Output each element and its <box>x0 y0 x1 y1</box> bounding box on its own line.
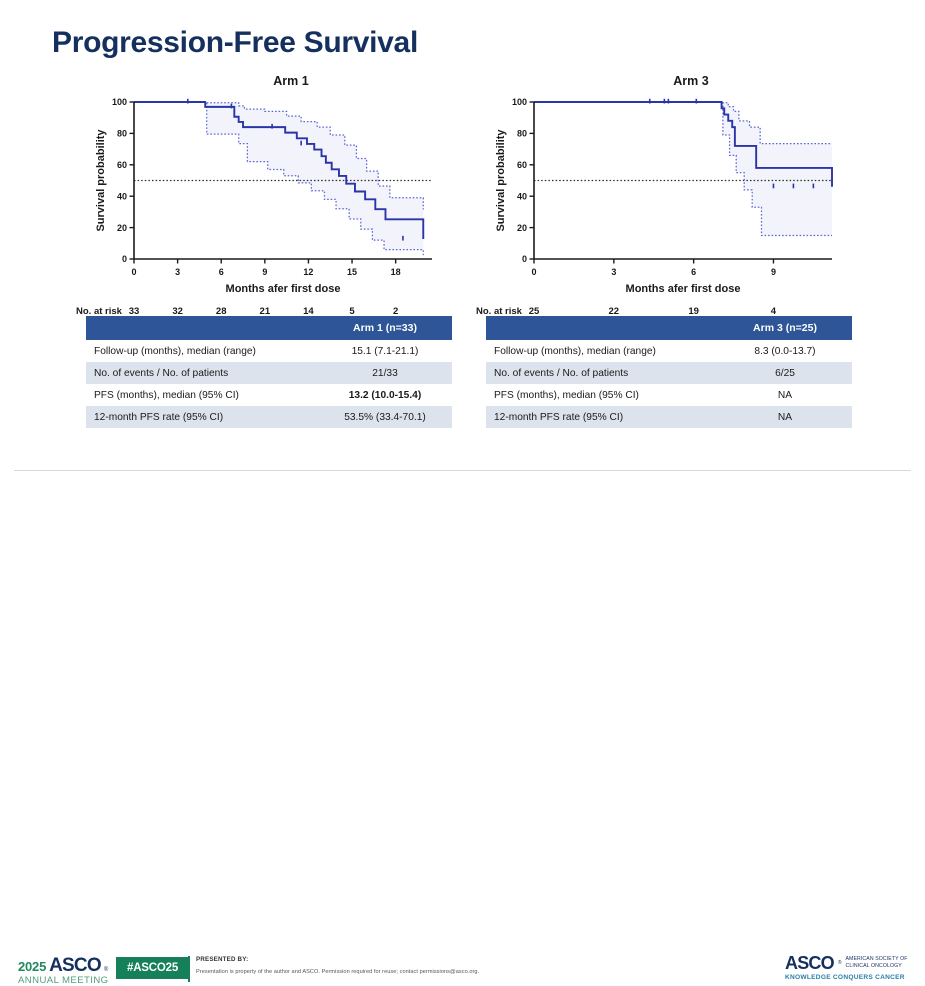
y-tick-label: 100 <box>112 97 127 107</box>
x-tick-label: 3 <box>175 267 180 277</box>
x-tick-label: 0 <box>131 267 136 277</box>
table-row: 12-month PFS rate (95% CI)NA <box>486 406 852 428</box>
table-cell-value: NA <box>718 406 852 428</box>
footer-divider <box>14 470 911 471</box>
y-tick-label: 0 <box>122 254 127 264</box>
stats-table-arm3: Arm 3 (n=25) Follow-up (months), median … <box>486 316 852 428</box>
y-axis-title: Survival probability <box>95 129 107 232</box>
registered-mark-icon: ® <box>838 960 842 966</box>
y-tick-label: 100 <box>512 97 527 107</box>
hashtag-badge: #ASCO25 <box>116 957 189 979</box>
table-cell-value: 8.3 (0.0-13.7) <box>718 340 852 362</box>
permission-text: Presentation is property of the author a… <box>196 969 479 975</box>
x-tick-label: 9 <box>262 267 267 277</box>
table-cell-value: 6/25 <box>718 362 852 384</box>
table-row: No. of events / No. of patients6/25 <box>486 362 852 384</box>
y-tick-label: 60 <box>117 160 127 170</box>
table-cell-label: No. of events / No. of patients <box>486 362 718 384</box>
society-tagline: KNOWLEDGE CONQUERS CANCER <box>785 974 908 981</box>
x-tick-label: 6 <box>691 267 696 277</box>
chart-panel-arm1: Arm 1 0369121518020406080100Months afer … <box>76 74 476 322</box>
x-tick-label: 3 <box>611 267 616 277</box>
table-row: PFS (months), median (95% CI)NA <box>486 384 852 406</box>
page-title: Progression-Free Survival <box>52 26 418 60</box>
meeting-brand: ASCO <box>49 956 101 975</box>
x-tick-label: 18 <box>391 267 401 277</box>
table-row: Follow-up (months), median (range)8.3 (0… <box>486 340 852 362</box>
y-tick-label: 40 <box>117 191 127 201</box>
meeting-year: 2025 <box>18 960 46 973</box>
chart-panel-arm3: Arm 3 0369020406080100Months afer first … <box>476 74 876 322</box>
table-cell-label: 12-month PFS rate (95% CI) <box>486 406 718 428</box>
table-row: 12-month PFS rate (95% CI)53.5% (33.4-70… <box>86 406 452 428</box>
x-axis-title: Months afer first dose <box>226 283 341 295</box>
table-cell-label: Follow-up (months), median (range) <box>486 340 718 362</box>
society-brand: ASCO <box>785 954 834 972</box>
presented-by-block: PRESENTED BY: Presentation is property o… <box>196 956 479 975</box>
stats-table-arm1: Arm 1 (n=33) Follow-up (months), median … <box>86 316 452 428</box>
presented-by-rule <box>188 956 190 982</box>
km-chart-arm1: 0369121518020406080100Months afer first … <box>82 90 442 305</box>
x-tick-label: 12 <box>303 267 313 277</box>
society-name-line2: CLINICAL ONCOLOGY <box>846 963 902 969</box>
asco-annual-meeting-logo: 2025 ASCO ® ANNUAL MEETING <box>18 956 109 986</box>
table-cell-label: PFS (months), median (95% CI) <box>86 384 318 406</box>
footer: 2025 ASCO ® ANNUAL MEETING #ASCO25 PRESE… <box>0 472 925 522</box>
table-header-row: Arm 1 (n=33) <box>86 316 452 340</box>
y-tick-label: 20 <box>517 223 527 233</box>
table-cell-value: 53.5% (33.4-70.1) <box>318 406 452 428</box>
meeting-subtitle: ANNUAL MEETING <box>18 976 109 986</box>
table-cell-label: No. of events / No. of patients <box>86 362 318 384</box>
chart-title-arm3: Arm 3 <box>476 74 876 88</box>
km-chart-arm3: 0369020406080100Months afer first doseSu… <box>482 90 842 305</box>
table-cell-label: PFS (months), median (95% CI) <box>486 384 718 406</box>
table-cell-value: 13.2 (10.0-15.4) <box>318 384 452 406</box>
table-row: PFS (months), median (95% CI)13.2 (10.0-… <box>86 384 452 406</box>
y-tick-label: 80 <box>117 129 127 139</box>
table-header-blank <box>86 316 318 340</box>
society-full-name: AMERICAN SOCIETY OF CLINICAL ONCOLOGY <box>846 956 908 970</box>
table-header-row: Arm 3 (n=25) <box>486 316 852 340</box>
table-cell-value: NA <box>718 384 852 406</box>
y-tick-label: 0 <box>522 254 527 264</box>
km-plot-arm3-svg: 0369020406080100Months afer first doseSu… <box>482 90 842 305</box>
ci-upper-curve <box>534 102 832 144</box>
table-header-arm: Arm 1 (n=33) <box>318 316 452 340</box>
x-tick-label: 15 <box>347 267 357 277</box>
table-cell-label: 12-month PFS rate (95% CI) <box>86 406 318 428</box>
chart-title-arm1: Arm 1 <box>76 74 476 88</box>
x-axis-title: Months afer first dose <box>626 283 741 295</box>
society-name-line1: AMERICAN SOCIETY OF <box>846 956 908 962</box>
table-row: No. of events / No. of patients21/33 <box>86 362 452 384</box>
table-header-blank <box>486 316 718 340</box>
ci-band <box>134 102 423 255</box>
table-header-arm: Arm 3 (n=25) <box>718 316 852 340</box>
km-plot-arm1-svg: 0369121518020406080100Months afer first … <box>82 90 442 305</box>
table-cell-value: 15.1 (7.1-21.1) <box>318 340 452 362</box>
asco-society-logo: ASCO ® AMERICAN SOCIETY OF CLINICAL ONCO… <box>785 954 908 981</box>
y-tick-label: 20 <box>117 223 127 233</box>
presented-by-label: PRESENTED BY: <box>196 956 479 963</box>
x-tick-label: 0 <box>531 267 536 277</box>
y-axis-title: Survival probability <box>495 129 507 232</box>
y-tick-label: 80 <box>517 129 527 139</box>
table-cell-value: 21/33 <box>318 362 452 384</box>
table-row: Follow-up (months), median (range)15.1 (… <box>86 340 452 362</box>
registered-mark-icon: ® <box>104 967 108 973</box>
x-tick-label: 6 <box>219 267 224 277</box>
y-tick-label: 40 <box>517 191 527 201</box>
table-cell-label: Follow-up (months), median (range) <box>86 340 318 362</box>
x-tick-label: 9 <box>771 267 776 277</box>
y-tick-label: 60 <box>517 160 527 170</box>
